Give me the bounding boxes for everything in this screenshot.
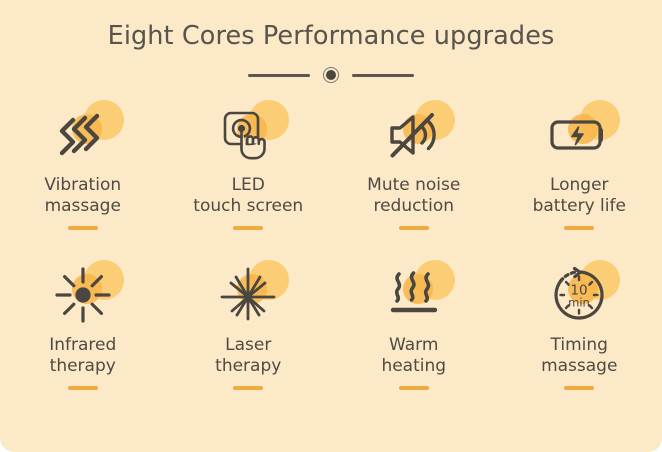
icon-container xyxy=(205,100,291,170)
sun-rays-icon xyxy=(51,263,115,327)
feature-label: Timing massage xyxy=(541,335,617,377)
icon-container xyxy=(371,260,457,330)
feature-mute-noise-reduction: Mute noise reduction xyxy=(331,100,497,260)
accent-underline xyxy=(564,386,594,390)
timer-value-unit: min xyxy=(568,296,590,310)
feature-label: LED touch screen xyxy=(193,175,303,217)
feature-label: Vibration massage xyxy=(44,175,121,217)
feature-label: Warm heating xyxy=(381,335,446,377)
accent-underline xyxy=(233,226,263,230)
feature-laser-therapy: Laser therapy xyxy=(166,260,332,420)
icon-container xyxy=(371,100,457,170)
touch-screen-hand-icon xyxy=(216,103,280,167)
feature-label: Infrared therapy xyxy=(49,335,116,377)
feature-infrared-therapy: Infrared therapy xyxy=(0,260,166,420)
heat-waves-icon xyxy=(382,263,446,327)
icon-container xyxy=(536,100,622,170)
feature-timing-massage: 10 min Timing massage xyxy=(497,260,662,420)
icon-container xyxy=(205,260,291,330)
divider-line-left xyxy=(248,74,310,77)
feature-poster: Eight Cores Performance upgrades xyxy=(0,0,662,452)
divider-dot-core xyxy=(326,70,336,80)
divider-line-right xyxy=(352,74,414,77)
timer-clock-icon: 10 min xyxy=(547,263,611,327)
icon-container xyxy=(40,260,126,330)
poster-header: Eight Cores Performance upgrades xyxy=(0,0,662,84)
section-divider xyxy=(244,66,418,84)
icon-container: 10 min xyxy=(536,260,622,330)
accent-underline xyxy=(399,226,429,230)
accent-underline xyxy=(233,386,263,390)
feature-label: Mute noise reduction xyxy=(367,175,460,217)
muted-speaker-icon xyxy=(382,103,446,167)
accent-underline xyxy=(564,226,594,230)
feature-label: Longer battery life xyxy=(533,175,626,217)
page-title: Eight Cores Performance upgrades xyxy=(0,22,662,50)
accent-underline xyxy=(399,386,429,390)
laser-starburst-icon xyxy=(216,263,280,327)
icon-container xyxy=(40,100,126,170)
vibration-waves-icon xyxy=(51,103,115,167)
battery-bolt-icon xyxy=(547,103,611,167)
feature-grid: Vibration massage xyxy=(0,100,662,420)
feature-warm-heating: Warm heating xyxy=(331,260,497,420)
feature-label: Laser therapy xyxy=(215,335,281,377)
feature-led-touch-screen: LED touch screen xyxy=(166,100,332,260)
feature-longer-battery-life: Longer battery life xyxy=(497,100,662,260)
accent-underline xyxy=(68,386,98,390)
accent-underline xyxy=(68,226,98,230)
feature-vibration-massage: Vibration massage xyxy=(0,100,166,260)
